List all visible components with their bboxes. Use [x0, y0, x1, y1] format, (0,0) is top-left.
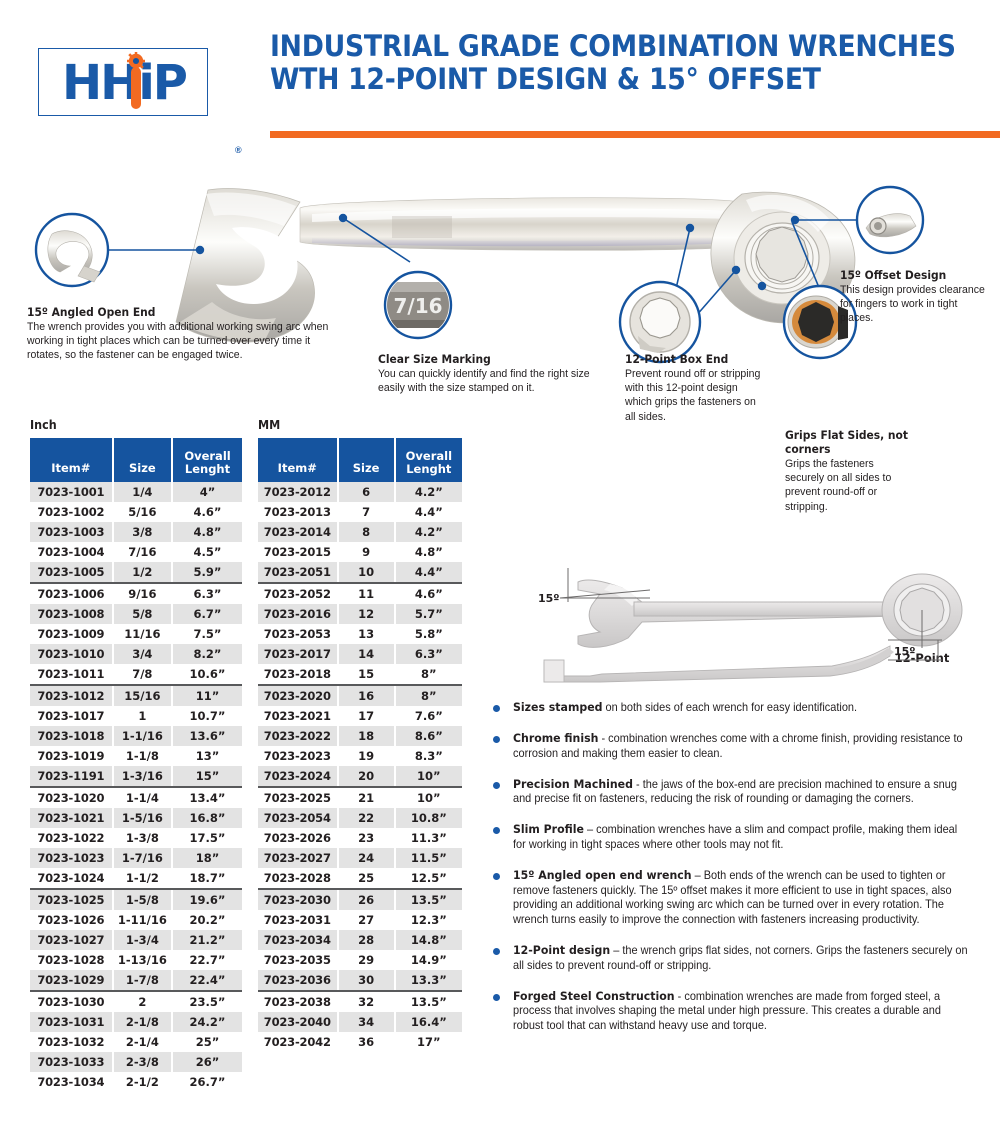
- angle-label-bottom: 15º: [894, 645, 916, 658]
- callout-body: The wrench provides you with additional …: [27, 320, 348, 363]
- technical-line-drawing: 15º 12-Point 15º: [482, 556, 1000, 684]
- cell-size: 18: [338, 726, 395, 746]
- cell-item: 7023-2036: [258, 970, 338, 991]
- cell-item: 7023-2024: [258, 766, 338, 787]
- table-row: 7023-2053135.8”: [258, 624, 462, 644]
- cell-length: 7.6”: [395, 706, 462, 726]
- table-row: 7023-20542210.8”: [258, 808, 462, 828]
- cell-item: 7023-1026: [30, 910, 113, 930]
- title-line-2: WTH 12-POINT DESIGN & 15° OFFSET: [270, 63, 932, 96]
- bullet-dot-icon: [493, 736, 500, 743]
- cell-length: 16.4”: [395, 1012, 462, 1032]
- cell-item: 7023-1001: [30, 482, 113, 502]
- feature-item: Forged Steel Construction - combination …: [487, 989, 997, 1034]
- cell-item: 7023-1033: [30, 1052, 113, 1072]
- callout-12-point-box-end: 12-Point Box End Prevent round off or st…: [625, 352, 775, 424]
- page-title: INDUSTRIAL GRADE COMBINATION WRENCHES WT…: [270, 30, 990, 96]
- cell-size: 1-3/4: [113, 930, 172, 950]
- cell-length: 25”: [172, 1032, 242, 1052]
- callout-body: You can quickly identify and find the ri…: [378, 367, 597, 395]
- table-row: 7023-2023198.3”: [258, 746, 462, 766]
- bullet-dot-icon: [493, 827, 500, 834]
- cell-length: 4.4”: [395, 502, 462, 522]
- cell-size: 10: [338, 562, 395, 583]
- cell-item: 7023-1008: [30, 604, 113, 624]
- cell-item: 7023-1027: [30, 930, 113, 950]
- hero-illustration: 7/16: [0, 150, 1000, 412]
- cell-item: 7023-1031: [30, 1012, 113, 1032]
- cell-size: 1-1/16: [113, 726, 172, 746]
- cell-length: 4”: [172, 482, 242, 502]
- cell-size: 3/4: [113, 644, 172, 664]
- cell-item: 7023-2028: [258, 868, 338, 889]
- cell-size: 2-1/2: [113, 1072, 172, 1092]
- cell-item: 7023-1025: [30, 889, 113, 910]
- feature-lead: Slim Profile: [513, 822, 584, 836]
- table-row: 7023-201264.2”: [258, 482, 462, 502]
- cell-size: 1: [113, 706, 172, 726]
- table-row: 7023-2021177.6”: [258, 706, 462, 726]
- cell-length: 4.6”: [395, 583, 462, 604]
- cell-item: 7023-2027: [258, 848, 338, 868]
- cell-item: 7023-2038: [258, 991, 338, 1012]
- cell-size: 3/8: [113, 522, 172, 542]
- size-stamp-text: 7/16: [393, 294, 442, 318]
- cell-length: 22.7”: [172, 950, 242, 970]
- cell-size: 1-13/16: [113, 950, 172, 970]
- cell-length: 23.5”: [172, 991, 242, 1012]
- cell-item: 7023-2030: [258, 889, 338, 910]
- cell-size: 21: [338, 787, 395, 808]
- table-row: 7023-2022188.6”: [258, 726, 462, 746]
- cell-length: 11.5”: [395, 848, 462, 868]
- cell-length: 14.8”: [395, 930, 462, 950]
- col-header-item: Item#: [258, 438, 338, 482]
- table-row: 7023-100911/167.5”: [30, 624, 242, 644]
- cell-length: 13.3”: [395, 970, 462, 991]
- col-header-size: Size: [113, 438, 172, 482]
- cell-length: 18”: [172, 848, 242, 868]
- cell-length: 14.9”: [395, 950, 462, 970]
- cell-length: 10.6”: [172, 664, 242, 685]
- cell-size: 1-3/16: [113, 766, 172, 787]
- feature-item: Precision Machined - the jaws of the box…: [487, 777, 997, 807]
- cell-size: 8: [338, 522, 395, 542]
- callout-title: Grips Flat Sides, not corners: [785, 428, 915, 456]
- cell-size: 24: [338, 848, 395, 868]
- cell-length: 13.6”: [172, 726, 242, 746]
- cell-item: 7023-2025: [258, 787, 338, 808]
- table-row: 7023-20302613.5”: [258, 889, 462, 910]
- table-row: 7023-10085/86.7”: [30, 604, 242, 624]
- cell-length: 6.3”: [395, 644, 462, 664]
- cell-length: 26”: [172, 1052, 242, 1072]
- inset-offset-design: [857, 187, 923, 253]
- cell-size: 23: [338, 828, 395, 848]
- feature-text: Sizes stamped on both sides of each wren…: [513, 700, 970, 716]
- cell-length: 10”: [395, 766, 462, 787]
- callout-angled-open-end: 15º Angled Open End The wrench provides …: [27, 305, 372, 363]
- cell-item: 7023-2015: [258, 542, 338, 562]
- callout-clear-size-marking: Clear Size Marking You can quickly ident…: [378, 352, 613, 395]
- cell-item: 7023-2016: [258, 604, 338, 624]
- cell-length: 8.6”: [395, 726, 462, 746]
- cell-size: 7: [338, 502, 395, 522]
- cell-length: 20.2”: [172, 910, 242, 930]
- inch-spec-table: Item# Size Overall Lenght 7023-10011/44”…: [30, 438, 242, 1092]
- callout-grips-flat-sides: Grips Flat Sides, not corners Grips the …: [785, 428, 925, 514]
- cell-length: 19.6”: [172, 889, 242, 910]
- table-row: 7023-10117/810.6”: [30, 664, 242, 685]
- inset-angled-open-end: [36, 214, 108, 286]
- cell-length: 4.2”: [395, 522, 462, 542]
- callout-title: Clear Size Marking: [378, 352, 597, 366]
- table-row: 7023-10211-5/1616.8”: [30, 808, 242, 828]
- cell-item: 7023-1010: [30, 644, 113, 664]
- col-header-overall-length: Overall Lenght: [172, 438, 242, 482]
- table-row: 7023-10025/164.6”: [30, 502, 242, 522]
- feature-body: on both sides of each wrench for easy id…: [602, 701, 857, 714]
- table-row: 7023-2020168”: [258, 685, 462, 706]
- cell-size: 14: [338, 644, 395, 664]
- cell-size: 32: [338, 991, 395, 1012]
- cell-size: 13: [338, 624, 395, 644]
- cell-item: 7023-2031: [258, 910, 338, 930]
- feature-text: 12-Point design – the wrench grips flat …: [513, 943, 970, 973]
- cell-item: 7023-1002: [30, 502, 113, 522]
- table-row: 7023-20312712.3”: [258, 910, 462, 930]
- cell-item: 7023-1006: [30, 583, 113, 604]
- cell-item: 7023-1028: [30, 950, 113, 970]
- cell-length: 4.8”: [172, 522, 242, 542]
- feature-lead: 15º Angled open end wrench: [513, 868, 692, 882]
- table-row: 7023-10291-7/822.4”: [30, 970, 242, 991]
- mm-spec-table-section: MM Item# Size Overall Lenght 7023-201264…: [258, 418, 462, 1052]
- cell-length: 24.2”: [172, 1012, 242, 1032]
- cell-item: 7023-1034: [30, 1072, 113, 1092]
- cell-item: 7023-2021: [258, 706, 338, 726]
- table-row: 7023-10271-3/421.2”: [30, 930, 242, 950]
- cell-size: 36: [338, 1032, 395, 1052]
- angle-label-top: 15º: [538, 592, 560, 605]
- cell-item: 7023-1024: [30, 868, 113, 889]
- cell-length: 7.5”: [172, 624, 242, 644]
- feature-text: Precision Machined - the jaws of the box…: [513, 777, 970, 807]
- table-row: 7023-10261-11/1620.2”: [30, 910, 242, 930]
- cell-length: 8.2”: [172, 644, 242, 664]
- cell-item: 7023-1030: [30, 991, 113, 1012]
- table-row: 7023-10181-1/1613.6”: [30, 726, 242, 746]
- cell-length: 10.7”: [172, 706, 242, 726]
- bullet-dot-icon: [493, 705, 500, 712]
- feature-bullet-list: Sizes stamped on both sides of each wren…: [487, 700, 997, 1049]
- table-row: 7023-20363013.3”: [258, 970, 462, 991]
- cell-size: 11/16: [113, 624, 172, 644]
- cell-item: 7023-2023: [258, 746, 338, 766]
- inch-spec-table-section: Inch Item# Size Overall Lenght 7023-1001…: [30, 418, 242, 1092]
- table-row: 7023-10251-5/819.6”: [30, 889, 242, 910]
- cell-length: 12.3”: [395, 910, 462, 930]
- table-row: 7023-10191-1/813”: [30, 746, 242, 766]
- table-row: 7023-201484.2”: [258, 522, 462, 542]
- cell-length: 11”: [172, 685, 242, 706]
- cell-size: 1/2: [113, 562, 172, 583]
- feature-text: Forged Steel Construction - combination …: [513, 989, 970, 1034]
- callout-body: Prevent round off or stripping with this…: [625, 367, 765, 424]
- cell-size: 26: [338, 889, 395, 910]
- col-header-size: Size: [338, 438, 395, 482]
- table-row: 7023-10241-1/218.7”: [30, 868, 242, 889]
- cell-size: 7/16: [113, 542, 172, 562]
- logo-i-stem: [131, 67, 141, 109]
- table-row: 7023-2017146.3”: [258, 644, 462, 664]
- bullet-dot-icon: [493, 782, 500, 789]
- cell-length: 10”: [395, 787, 462, 808]
- cell-item: 7023-1022: [30, 828, 113, 848]
- table-row: 7023-20342814.8”: [258, 930, 462, 950]
- title-line-1: INDUSTRIAL GRADE COMBINATION WRENCHES: [270, 30, 932, 63]
- table-row: 7023-2018158”: [258, 664, 462, 685]
- cell-item: 7023-1011: [30, 664, 113, 685]
- cell-size: 15: [338, 664, 395, 685]
- cell-item: 7023-1018: [30, 726, 113, 746]
- col-header-overall-length: Overall Lenght: [395, 438, 462, 482]
- cell-length: 5.9”: [172, 562, 242, 583]
- cell-size: 1-11/16: [113, 910, 172, 930]
- cell-item: 7023-1009: [30, 624, 113, 644]
- cell-size: 1-1/8: [113, 746, 172, 766]
- feature-item: Slim Profile – combination wrenches have…: [487, 822, 997, 852]
- callout-body: Grips the fasteners securely on all side…: [785, 457, 915, 514]
- table-row: 7023-10069/166.3”: [30, 583, 242, 604]
- cell-length: 17”: [395, 1032, 462, 1052]
- cell-item: 7023-2040: [258, 1012, 338, 1032]
- table-row: 7023-20242010”: [258, 766, 462, 787]
- cell-size: 9: [338, 542, 395, 562]
- cell-size: 29: [338, 950, 395, 970]
- cell-item: 7023-2014: [258, 522, 338, 542]
- cell-item: 7023-2018: [258, 664, 338, 685]
- mm-spec-table: Item# Size Overall Lenght 7023-201264.2”…: [258, 438, 462, 1052]
- cell-size: 20: [338, 766, 395, 787]
- cell-size: 34: [338, 1012, 395, 1032]
- cell-size: 1-7/16: [113, 848, 172, 868]
- table-row: 7023-20423617”: [258, 1032, 462, 1052]
- table-row: 7023-10103/48.2”: [30, 644, 242, 664]
- cell-item: 7023-1023: [30, 848, 113, 868]
- cell-item: 7023-2013: [258, 502, 338, 522]
- cell-item: 7023-2022: [258, 726, 338, 746]
- table-row: 7023-2052114.6”: [258, 583, 462, 604]
- feature-item: Chrome finish - combination wrenches com…: [487, 731, 997, 761]
- cell-size: 15/16: [113, 685, 172, 706]
- cell-length: 8”: [395, 685, 462, 706]
- cell-item: 7023-1003: [30, 522, 113, 542]
- cell-length: 4.5”: [172, 542, 242, 562]
- table-row: 7023-20403416.4”: [258, 1012, 462, 1032]
- feature-lead: Sizes stamped: [513, 700, 602, 714]
- cell-length: 11.3”: [395, 828, 462, 848]
- cell-length: 21.2”: [172, 930, 242, 950]
- cell-size: 2: [113, 991, 172, 1012]
- cell-size: 1-5/8: [113, 889, 172, 910]
- table-row: 7023-10033/84.8”: [30, 522, 242, 542]
- cell-length: 5.7”: [395, 604, 462, 624]
- cell-size: 19: [338, 746, 395, 766]
- cell-length: 4.8”: [395, 542, 462, 562]
- mm-table-body: 7023-201264.2”7023-201374.4”7023-201484.…: [258, 482, 462, 1052]
- cell-size: 2-1/8: [113, 1012, 172, 1032]
- cell-item: 7023-1021: [30, 808, 113, 828]
- cell-size: 30: [338, 970, 395, 991]
- feature-item: 12-Point design – the wrench grips flat …: [487, 943, 997, 973]
- cell-item: 7023-2052: [258, 583, 338, 604]
- cell-item: 7023-1017: [30, 706, 113, 726]
- cell-item: 7023-2026: [258, 828, 338, 848]
- cell-length: 4.2”: [395, 482, 462, 502]
- table-row: 7023-11911-3/1615”: [30, 766, 242, 787]
- table-row: 7023-10051/25.9”: [30, 562, 242, 583]
- feature-lead: 12-Point design: [513, 943, 610, 957]
- feature-text: Chrome finish - combination wrenches com…: [513, 731, 970, 761]
- cell-size: 1-3/8: [113, 828, 172, 848]
- table-row: 7023-2051104.4”: [258, 562, 462, 583]
- cell-length: 8.3”: [395, 746, 462, 766]
- feature-text: Slim Profile – combination wrenches have…: [513, 822, 970, 852]
- callout-offset-design: 15º Offset Design This design provides c…: [840, 268, 1000, 326]
- cell-item: 7023-2034: [258, 930, 338, 950]
- feature-item: Sizes stamped on both sides of each wren…: [487, 700, 997, 716]
- feature-text: 15º Angled open end wrench – Both ends o…: [513, 868, 970, 927]
- cell-item: 7023-2035: [258, 950, 338, 970]
- cell-length: 5.8”: [395, 624, 462, 644]
- header-accent-rule: [270, 131, 1000, 138]
- cell-length: 4.6”: [172, 502, 242, 522]
- table-row: 7023-10332-3/826”: [30, 1052, 242, 1072]
- cell-length: 13”: [172, 746, 242, 766]
- cell-length: 18.7”: [172, 868, 242, 889]
- table-row: 7023-10231-7/1618”: [30, 848, 242, 868]
- cell-item: 7023-2017: [258, 644, 338, 664]
- callout-title: 15º Angled Open End: [27, 305, 348, 319]
- logo-wordmark: HHiP: [39, 49, 209, 117]
- cell-length: 13.4”: [172, 787, 242, 808]
- cell-item: 7023-2053: [258, 624, 338, 644]
- feature-lead: Precision Machined: [513, 777, 633, 791]
- table-row: 7023-1030223.5”: [30, 991, 242, 1012]
- cell-size: 16: [338, 685, 395, 706]
- bullet-dot-icon: [493, 994, 500, 1001]
- cell-item: 7023-1005: [30, 562, 113, 583]
- cell-size: 7/8: [113, 664, 172, 685]
- cell-item: 7023-1012: [30, 685, 113, 706]
- table-row: 7023-10281-13/1622.7”: [30, 950, 242, 970]
- cell-item: 7023-2012: [258, 482, 338, 502]
- table-row: 7023-101215/1611”: [30, 685, 242, 706]
- cell-length: 6.3”: [172, 583, 242, 604]
- cell-length: 13.5”: [395, 991, 462, 1012]
- cell-length: 16.8”: [172, 808, 242, 828]
- feature-lead: Chrome finish: [513, 731, 598, 745]
- cell-item: 7023-2042: [258, 1032, 338, 1052]
- table-row: 7023-10221-3/817.5”: [30, 828, 242, 848]
- cell-size: 2-3/8: [113, 1052, 172, 1072]
- table-row: 7023-201594.8”: [258, 542, 462, 562]
- cell-size: 2-1/4: [113, 1032, 172, 1052]
- table-row: 7023-10047/164.5”: [30, 542, 242, 562]
- cell-length: 15”: [172, 766, 242, 787]
- table-row: 7023-10342-1/226.7”: [30, 1072, 242, 1092]
- hhip-logo: HHiP ®: [38, 48, 208, 116]
- cell-item: 7023-1004: [30, 542, 113, 562]
- cell-item: 7023-2051: [258, 562, 338, 583]
- col-header-item: Item#: [30, 438, 113, 482]
- cell-size: 25: [338, 868, 395, 889]
- cell-size: 1-1/2: [113, 868, 172, 889]
- callout-body: This design provides clearance for finge…: [840, 283, 989, 326]
- cell-length: 8”: [395, 664, 462, 685]
- cell-size: 5/8: [113, 604, 172, 624]
- cell-size: 27: [338, 910, 395, 930]
- feature-lead: Forged Steel Construction: [513, 989, 675, 1003]
- table-header-row: Item# Size Overall Lenght: [30, 438, 242, 482]
- table-header-row: Item# Size Overall Lenght: [258, 438, 462, 482]
- cell-length: 13.5”: [395, 889, 462, 910]
- cell-length: 4.4”: [395, 562, 462, 583]
- table-row: 7023-10322-1/425”: [30, 1032, 242, 1052]
- mm-table-caption: MM: [258, 418, 448, 432]
- cell-item: 7023-1032: [30, 1032, 113, 1052]
- cell-length: 10.8”: [395, 808, 462, 828]
- cell-size: 28: [338, 930, 395, 950]
- cell-size: 1-5/16: [113, 808, 172, 828]
- cell-size: 1-7/8: [113, 970, 172, 991]
- inch-table-caption: Inch: [30, 418, 227, 432]
- cell-item: 7023-1029: [30, 970, 113, 991]
- cell-item: 7023-2054: [258, 808, 338, 828]
- table-row: 7023-20262311.3”: [258, 828, 462, 848]
- product-datasheet-page: HHiP ® INDUSTRIAL GRADE COMBINATION WREN…: [0, 0, 1000, 1134]
- table-row: 7023-20272411.5”: [258, 848, 462, 868]
- inch-table-body: 7023-10011/44”7023-10025/164.6”7023-1003…: [30, 482, 242, 1092]
- cell-size: 11: [338, 583, 395, 604]
- inset-12-point-box-end: [620, 282, 700, 362]
- cell-length: 12.5”: [395, 868, 462, 889]
- table-row: 7023-20282512.5”: [258, 868, 462, 889]
- cell-item: 7023-2020: [258, 685, 338, 706]
- inset-size-stamp: 7/16: [385, 272, 451, 338]
- cell-length: 22.4”: [172, 970, 242, 991]
- table-row: 7023-1017110.7”: [30, 706, 242, 726]
- table-row: 7023-20352914.9”: [258, 950, 462, 970]
- cell-length: 6.7”: [172, 604, 242, 624]
- table-row: 7023-2016125.7”: [258, 604, 462, 624]
- bullet-dot-icon: [493, 873, 500, 880]
- table-row: 7023-10011/44”: [30, 482, 242, 502]
- table-row: 7023-20383213.5”: [258, 991, 462, 1012]
- cell-size: 1/4: [113, 482, 172, 502]
- cell-size: 1-1/4: [113, 787, 172, 808]
- bullet-dot-icon: [493, 948, 500, 955]
- cell-item: 7023-1020: [30, 787, 113, 808]
- table-row: 7023-20252110”: [258, 787, 462, 808]
- callout-title: 15º Offset Design: [840, 268, 989, 282]
- cell-length: 26.7”: [172, 1072, 242, 1092]
- page-header: HHiP ® INDUSTRIAL GRADE COMBINATION WREN…: [0, 0, 1000, 150]
- cell-size: 5/16: [113, 502, 172, 522]
- table-row: 7023-201374.4”: [258, 502, 462, 522]
- callout-title: 12-Point Box End: [625, 352, 765, 366]
